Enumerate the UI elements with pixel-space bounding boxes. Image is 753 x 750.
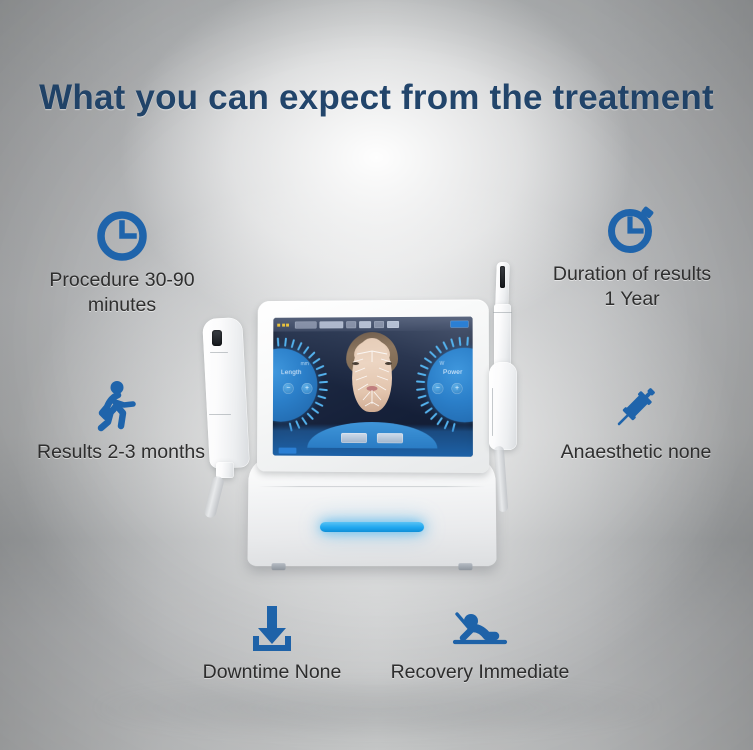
screen-corner-button[interactable] bbox=[279, 448, 297, 454]
feature-results: Results 2-3 months bbox=[2, 378, 240, 465]
power-plus-button[interactable]: + bbox=[451, 383, 462, 394]
topbar-field2-value[interactable] bbox=[387, 320, 399, 327]
feature-recovery: Recovery Immediate bbox=[378, 598, 582, 685]
topbar-mode-label bbox=[295, 321, 317, 328]
handpiece-right-window bbox=[500, 266, 505, 288]
screen-bottom-bar bbox=[273, 424, 473, 457]
treatment-zone-lines-icon bbox=[343, 332, 401, 418]
machine-foot-right bbox=[458, 563, 472, 570]
feature-procedure: Procedure 30-90 minutes bbox=[8, 206, 236, 318]
power-dial[interactable] bbox=[416, 336, 473, 433]
feature-recovery-line1: Recovery Immediate bbox=[378, 660, 582, 685]
feature-downtime: Downtime None bbox=[182, 598, 362, 685]
machine-base bbox=[247, 460, 496, 566]
handpiece-right-shaft bbox=[494, 304, 511, 366]
feature-duration: Duration of results 1 Year bbox=[518, 200, 746, 312]
length-minus-button[interactable]: − bbox=[283, 383, 294, 394]
topbar-action-button[interactable] bbox=[450, 320, 468, 327]
length-plus-button[interactable]: + bbox=[302, 383, 313, 394]
page-title: What you can expect from the treatment bbox=[0, 78, 753, 118]
download-arrow-icon bbox=[182, 598, 362, 654]
machine-monitor: mm Length − + bbox=[257, 299, 489, 473]
topbar-mode-value[interactable] bbox=[320, 321, 344, 328]
length-dial[interactable] bbox=[273, 337, 329, 433]
handpiece-left-seam-1 bbox=[210, 352, 228, 353]
screen-button-2[interactable] bbox=[377, 433, 403, 443]
feature-procedure-line1: Procedure 30-90 bbox=[8, 268, 236, 293]
power-minus-button[interactable]: − bbox=[432, 383, 443, 394]
hifu-machine: mm Length − + bbox=[248, 300, 496, 565]
power-value: W bbox=[440, 361, 445, 367]
feature-results-line1: Results 2-3 months bbox=[2, 440, 240, 465]
bottom-bar-curve bbox=[307, 422, 437, 449]
handpiece-left-cable bbox=[203, 475, 225, 519]
topbar-field2-label bbox=[374, 321, 384, 328]
running-person-icon bbox=[2, 378, 240, 434]
patient-face-image bbox=[343, 332, 401, 418]
clock-icon bbox=[8, 206, 236, 262]
length-value: mm bbox=[301, 361, 309, 367]
stopwatch-icon bbox=[518, 200, 746, 256]
length-label: Length bbox=[281, 369, 302, 376]
base-seam bbox=[258, 486, 485, 487]
floor-shadow bbox=[97, 678, 657, 738]
touch-screen[interactable]: mm Length − + bbox=[273, 317, 473, 457]
screen-top-bar bbox=[273, 317, 472, 332]
feature-duration-line2: 1 Year bbox=[518, 287, 746, 312]
screen-button-1[interactable] bbox=[341, 433, 367, 443]
handpiece-right-seam-1 bbox=[493, 312, 512, 313]
power-label: Power bbox=[443, 369, 463, 376]
topbar-field1-label bbox=[346, 321, 356, 328]
feature-anaesthetic-line1: Anaesthetic none bbox=[520, 440, 752, 465]
status-led-strip bbox=[320, 522, 424, 532]
handpiece-left-window bbox=[212, 330, 222, 346]
topbar-field1-value[interactable] bbox=[359, 321, 371, 328]
feature-duration-line1: Duration of results bbox=[518, 262, 746, 287]
reclining-person-icon bbox=[378, 598, 582, 654]
machine-foot-left bbox=[272, 563, 286, 570]
syringe-icon bbox=[520, 378, 752, 434]
indicator-dots-icon bbox=[277, 323, 289, 326]
feature-downtime-line1: Downtime None bbox=[182, 660, 362, 685]
feature-procedure-line2: minutes bbox=[8, 293, 236, 318]
handpiece-right-grip bbox=[489, 362, 517, 450]
handpiece-right-cable bbox=[494, 446, 509, 513]
handpiece-right-seam-2 bbox=[492, 388, 493, 436]
poster-canvas: What you can expect from the treatment bbox=[0, 0, 753, 750]
feature-anaesthetic: Anaesthetic none bbox=[520, 378, 752, 465]
